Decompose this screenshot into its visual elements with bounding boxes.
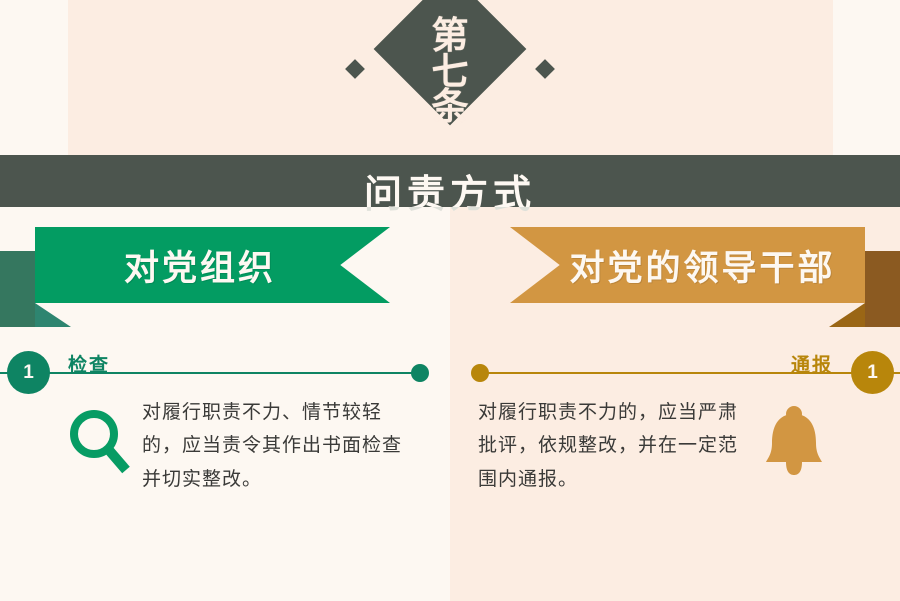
ribbon-fold-left — [0, 251, 35, 327]
emblem-char-2: 七 — [432, 55, 469, 91]
timeline-rail-left — [0, 372, 420, 374]
page-title: 问责方式 — [0, 163, 900, 218]
magnifier-icon — [60, 396, 142, 492]
emblem-char-3: 条 — [432, 90, 469, 126]
ribbon-label-left-wrap: 对党组织 — [35, 227, 365, 303]
timeline-endcap-left — [411, 364, 429, 382]
step-badge-left: 1 — [7, 351, 50, 394]
content-block-right: 对履行职责不力的，应当严肃批评，依规整改，并在一定范围内通报。 — [478, 396, 868, 496]
article-emblem: 第 七 条 — [380, 0, 520, 145]
timeline-endcap-right — [471, 364, 489, 382]
title-bar: 问责方式 — [0, 155, 900, 207]
article-emblem-label: 第 七 条 — [380, 0, 520, 145]
body-text-left: 对履行职责不力、情节较轻的，应当责令其作出书面检查并切实整改。 — [142, 396, 414, 496]
step-number-right: 1 — [867, 362, 878, 384]
ribbon-label-left: 对党组织 — [124, 240, 276, 291]
ribbon-fold-right — [865, 251, 900, 327]
step-badge-right: 1 — [851, 351, 894, 394]
ribbon-label-right-wrap: 对党的领导干部 — [540, 227, 865, 303]
step-number-left: 1 — [23, 362, 34, 384]
background-panel-top-left — [0, 0, 68, 155]
content-block-left: 对履行职责不力、情节较轻的，应当责令其作出书面检查并切实整改。 — [60, 396, 430, 496]
infographic-poster: 第 七 条 问责方式 问责方式 对党组织 对党的领导干部 1 检查 1 通报 — [0, 0, 900, 601]
bell-icon — [750, 396, 832, 492]
emblem-char-1: 第 — [432, 19, 469, 55]
body-text-right: 对履行职责不力的，应当严肃批评，依规整改，并在一定范围内通报。 — [478, 396, 750, 496]
ribbon-label-right: 对党的领导干部 — [569, 240, 835, 291]
step-label-right: 通报 — [791, 350, 833, 377]
step-label-left: 检查 — [68, 350, 110, 377]
timeline-rail-right — [478, 372, 900, 374]
background-panel-top-right — [833, 0, 900, 155]
